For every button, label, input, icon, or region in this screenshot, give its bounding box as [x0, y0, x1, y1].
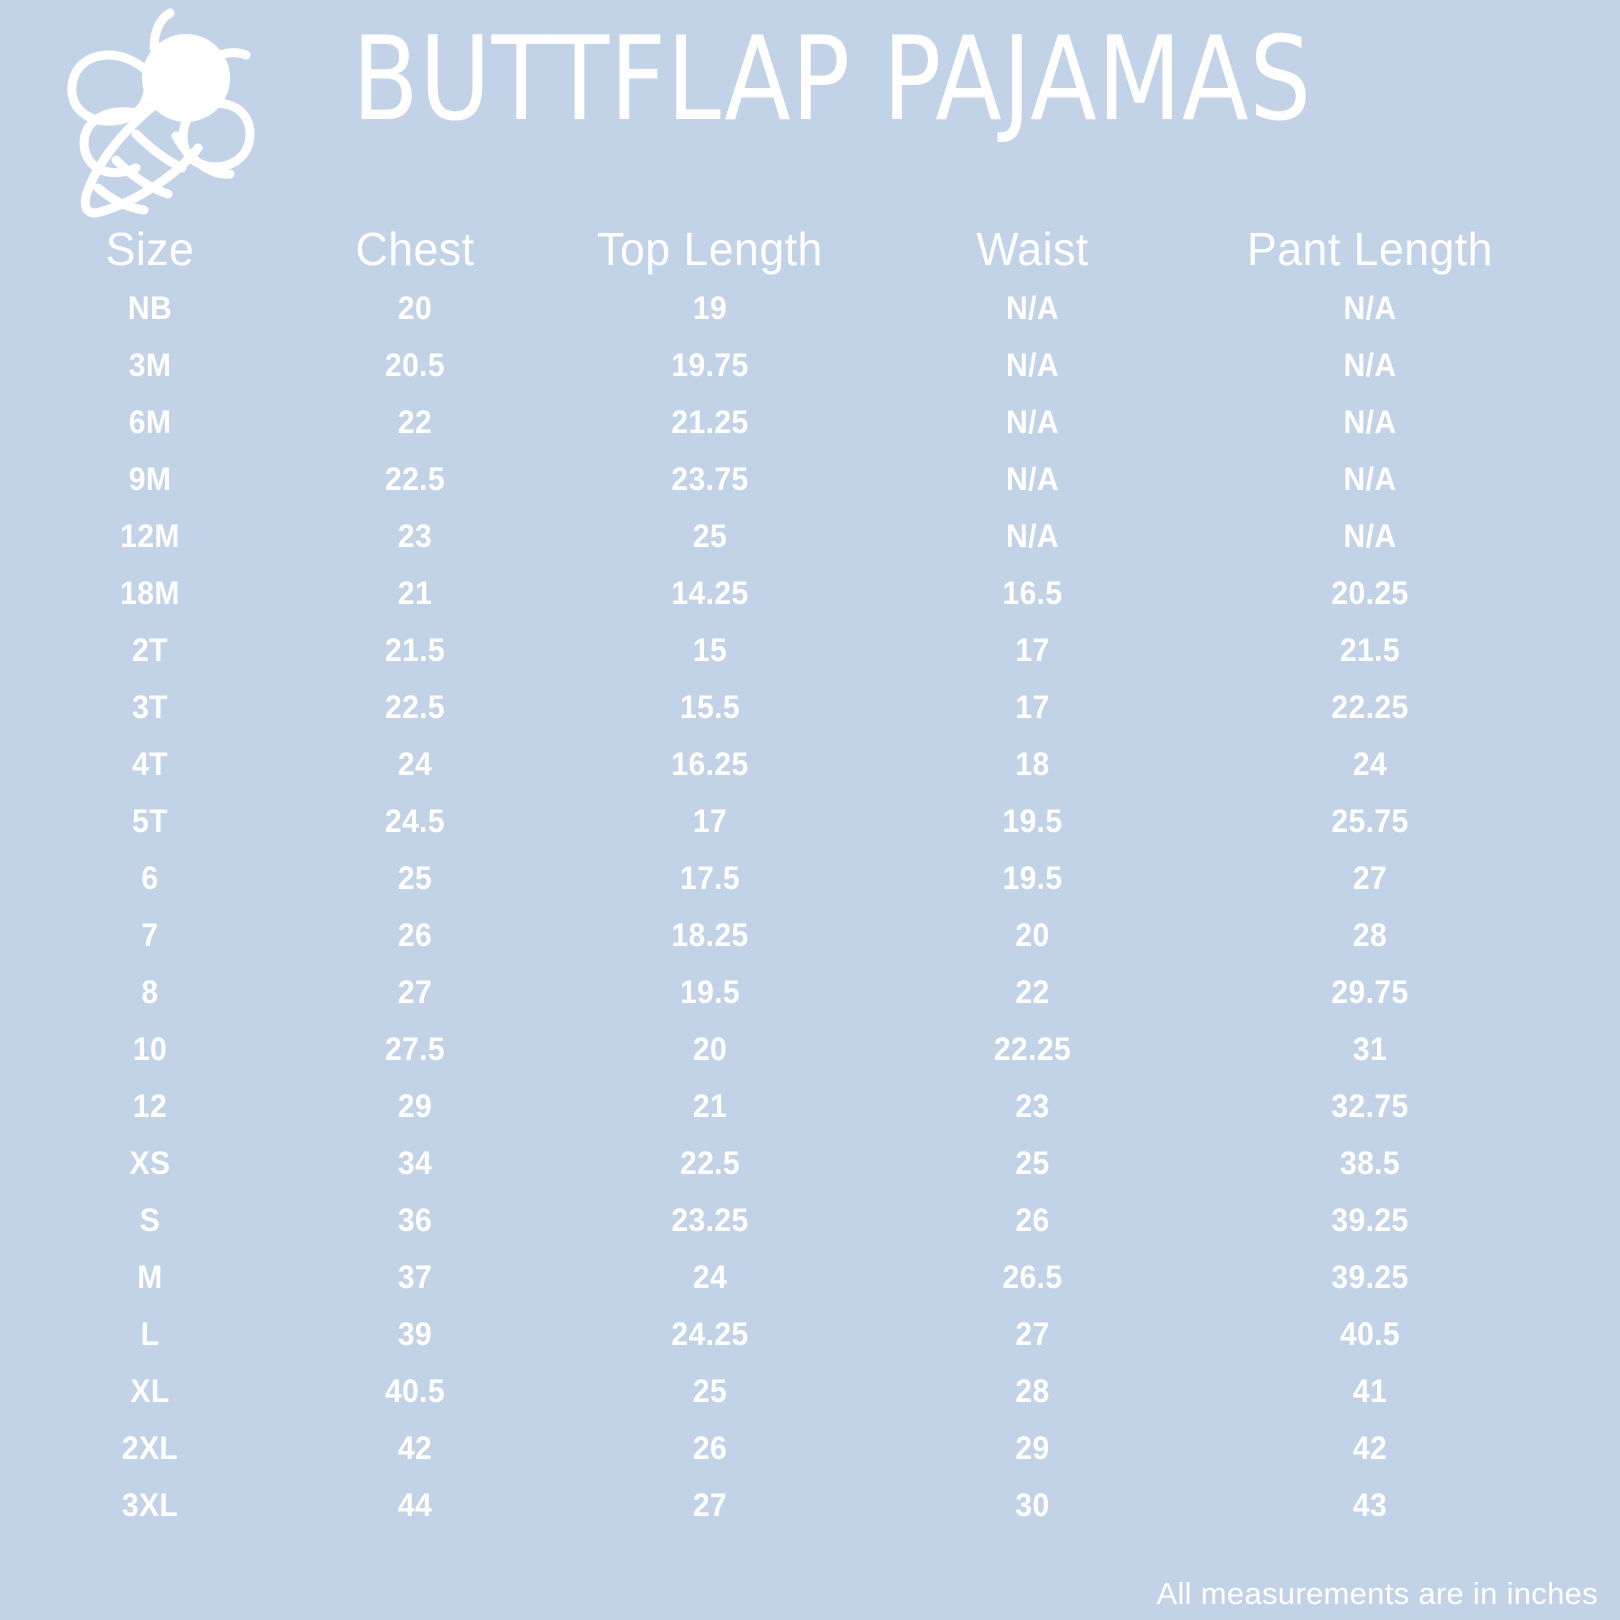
- cell-top-length: 19: [541, 290, 879, 327]
- cell-top-length: 15.5: [541, 689, 879, 726]
- cell-pant-length: 39.25: [1187, 1259, 1554, 1296]
- cell-pant-length: N/A: [1187, 404, 1554, 441]
- cell-chest: 25: [307, 860, 523, 897]
- cell-size: M: [9, 1259, 291, 1296]
- cell-waist: 27: [899, 1316, 1167, 1353]
- cell-top-length: 20: [541, 1031, 879, 1068]
- table-row: 3T 22.5 15.5 17 22.25: [0, 679, 1620, 736]
- table-row: 5T 24.5 17 19.5 25.75: [0, 793, 1620, 850]
- cell-chest: 22: [307, 404, 523, 441]
- cell-size: 6M: [9, 404, 291, 441]
- column-header-top-length: Top Length: [535, 222, 884, 276]
- cell-waist: 29: [899, 1430, 1167, 1467]
- cell-size: XS: [9, 1145, 291, 1182]
- cell-pant-length: 39.25: [1187, 1202, 1554, 1239]
- cell-waist: 18: [899, 746, 1167, 783]
- table-row: 3M 20.5 19.75 N/A N/A: [0, 337, 1620, 394]
- cell-pant-length: N/A: [1187, 290, 1554, 327]
- cell-top-length: 25: [541, 1373, 879, 1410]
- cell-size: 5T: [9, 803, 291, 840]
- cell-size: 18M: [9, 575, 291, 612]
- cell-top-length: 16.25: [541, 746, 879, 783]
- cell-pant-length: N/A: [1187, 518, 1554, 555]
- page-title: BUTTFLAP PAJAMAS: [352, 18, 1515, 142]
- cell-top-length: 17.5: [541, 860, 879, 897]
- cell-pant-length: 24: [1187, 746, 1554, 783]
- cell-waist: 19.5: [899, 860, 1167, 897]
- cell-top-length: 24.25: [541, 1316, 879, 1353]
- cell-pant-length: 25.75: [1187, 803, 1554, 840]
- cell-pant-length: 42: [1187, 1430, 1554, 1467]
- cell-top-length: 19.5: [541, 974, 879, 1011]
- cell-waist: 30: [899, 1487, 1167, 1524]
- table-row: NB 20 19 N/A N/A: [0, 280, 1620, 337]
- cell-waist: N/A: [899, 347, 1167, 384]
- cell-size: 10: [9, 1031, 291, 1068]
- cell-top-length: 21.25: [541, 404, 879, 441]
- cell-top-length: 19.75: [541, 347, 879, 384]
- cell-waist: 26.5: [899, 1259, 1167, 1296]
- cell-pant-length: 20.25: [1187, 575, 1554, 612]
- cell-chest: 34: [307, 1145, 523, 1182]
- cell-chest: 27: [307, 974, 523, 1011]
- cell-chest: 24: [307, 746, 523, 783]
- cell-pant-length: 32.75: [1187, 1088, 1554, 1125]
- cell-pant-length: 29.75: [1187, 974, 1554, 1011]
- table-row: 3XL 44 27 30 43: [0, 1477, 1620, 1534]
- cell-waist: N/A: [899, 290, 1167, 327]
- cell-chest: 26: [307, 917, 523, 954]
- cell-waist: 28: [899, 1373, 1167, 1410]
- cell-chest: 27.5: [307, 1031, 523, 1068]
- table-row: 12M 23 25 N/A N/A: [0, 508, 1620, 565]
- cell-chest: 24.5: [307, 803, 523, 840]
- column-header-pant-length: Pant Length: [1181, 222, 1559, 276]
- table-row: 6 25 17.5 19.5 27: [0, 850, 1620, 907]
- chart-header: BUTTFLAP PAJAMAS: [0, 0, 1620, 218]
- cell-pant-length: N/A: [1187, 461, 1554, 498]
- bee-icon: [58, 8, 263, 220]
- cell-waist: 22.25: [899, 1031, 1167, 1068]
- cell-size: 9M: [9, 461, 291, 498]
- cell-pant-length: 41: [1187, 1373, 1554, 1410]
- cell-waist: 23: [899, 1088, 1167, 1125]
- cell-waist: 25: [899, 1145, 1167, 1182]
- table-row: XL 40.5 25 28 41: [0, 1363, 1620, 1420]
- size-chart-page: BUTTFLAP PAJAMAS Size Chest Top Length W…: [0, 0, 1620, 1620]
- table-row: 18M 21 14.25 16.5 20.25: [0, 565, 1620, 622]
- cell-chest: 22.5: [307, 689, 523, 726]
- cell-waist: 26: [899, 1202, 1167, 1239]
- cell-waist: 17: [899, 632, 1167, 669]
- cell-size: NB: [9, 290, 291, 327]
- table-row: M 37 24 26.5 39.25: [0, 1249, 1620, 1306]
- cell-chest: 21: [307, 575, 523, 612]
- cell-top-length: 17: [541, 803, 879, 840]
- table-row: 6M 22 21.25 N/A N/A: [0, 394, 1620, 451]
- cell-top-length: 27: [541, 1487, 879, 1524]
- cell-size: S: [9, 1202, 291, 1239]
- cell-pant-length: 22.25: [1187, 689, 1554, 726]
- cell-top-length: 18.25: [541, 917, 879, 954]
- measurement-units-note: All measurements are in inches: [1157, 1576, 1598, 1612]
- cell-waist: 17: [899, 689, 1167, 726]
- cell-size: 8: [9, 974, 291, 1011]
- cell-size: XL: [9, 1373, 291, 1410]
- cell-top-length: 25: [541, 518, 879, 555]
- table-row: 12 29 21 23 32.75: [0, 1078, 1620, 1135]
- cell-size: 2XL: [9, 1430, 291, 1467]
- table-header-row: Size Chest Top Length Waist Pant Length: [0, 218, 1620, 280]
- table-row: 4T 24 16.25 18 24: [0, 736, 1620, 793]
- column-header-chest: Chest: [303, 222, 526, 276]
- size-chart-table: Size Chest Top Length Waist Pant Length …: [0, 218, 1620, 1534]
- cell-pant-length: 27: [1187, 860, 1554, 897]
- cell-top-length: 21: [541, 1088, 879, 1125]
- cell-chest: 40.5: [307, 1373, 523, 1410]
- cell-top-length: 22.5: [541, 1145, 879, 1182]
- table-row: 9M 22.5 23.75 N/A N/A: [0, 451, 1620, 508]
- cell-pant-length: 38.5: [1187, 1145, 1554, 1182]
- cell-waist: N/A: [899, 518, 1167, 555]
- cell-pant-length: N/A: [1187, 347, 1554, 384]
- cell-size: 12: [9, 1088, 291, 1125]
- cell-waist: 19.5: [899, 803, 1167, 840]
- cell-waist: 22: [899, 974, 1167, 1011]
- cell-waist: 16.5: [899, 575, 1167, 612]
- cell-pant-length: 40.5: [1187, 1316, 1554, 1353]
- cell-waist: 20: [899, 917, 1167, 954]
- cell-size: 7: [9, 917, 291, 954]
- cell-chest: 44: [307, 1487, 523, 1524]
- cell-pant-length: 31: [1187, 1031, 1554, 1068]
- table-row: L 39 24.25 27 40.5: [0, 1306, 1620, 1363]
- cell-pant-length: 21.5: [1187, 632, 1554, 669]
- cell-top-length: 24: [541, 1259, 879, 1296]
- cell-size: 2T: [9, 632, 291, 669]
- cell-top-length: 26: [541, 1430, 879, 1467]
- cell-size: 4T: [9, 746, 291, 783]
- cell-pant-length: 28: [1187, 917, 1554, 954]
- cell-size: 3XL: [9, 1487, 291, 1524]
- column-header-waist: Waist: [894, 222, 1170, 276]
- table-row: 10 27.5 20 22.25 31: [0, 1021, 1620, 1078]
- cell-waist: N/A: [899, 404, 1167, 441]
- table-row: 2XL 42 26 29 42: [0, 1420, 1620, 1477]
- cell-size: 3T: [9, 689, 291, 726]
- cell-pant-length: 43: [1187, 1487, 1554, 1524]
- cell-chest: 20: [307, 290, 523, 327]
- cell-size: L: [9, 1316, 291, 1353]
- table-row: 7 26 18.25 20 28: [0, 907, 1620, 964]
- table-row: 2T 21.5 15 17 21.5: [0, 622, 1620, 679]
- cell-top-length: 23.75: [541, 461, 879, 498]
- cell-size: 6: [9, 860, 291, 897]
- cell-chest: 23: [307, 518, 523, 555]
- cell-chest: 29: [307, 1088, 523, 1125]
- cell-top-length: 14.25: [541, 575, 879, 612]
- cell-waist: N/A: [899, 461, 1167, 498]
- cell-top-length: 23.25: [541, 1202, 879, 1239]
- table-row: XS 34 22.5 25 38.5: [0, 1135, 1620, 1192]
- cell-chest: 20.5: [307, 347, 523, 384]
- table-row: S 36 23.25 26 39.25: [0, 1192, 1620, 1249]
- cell-top-length: 15: [541, 632, 879, 669]
- cell-chest: 21.5: [307, 632, 523, 669]
- table-row: 8 27 19.5 22 29.75: [0, 964, 1620, 1021]
- cell-chest: 37: [307, 1259, 523, 1296]
- cell-chest: 39: [307, 1316, 523, 1353]
- cell-chest: 42: [307, 1430, 523, 1467]
- cell-size: 12M: [9, 518, 291, 555]
- cell-size: 3M: [9, 347, 291, 384]
- cell-chest: 22.5: [307, 461, 523, 498]
- column-header-size: Size: [5, 222, 296, 276]
- cell-chest: 36: [307, 1202, 523, 1239]
